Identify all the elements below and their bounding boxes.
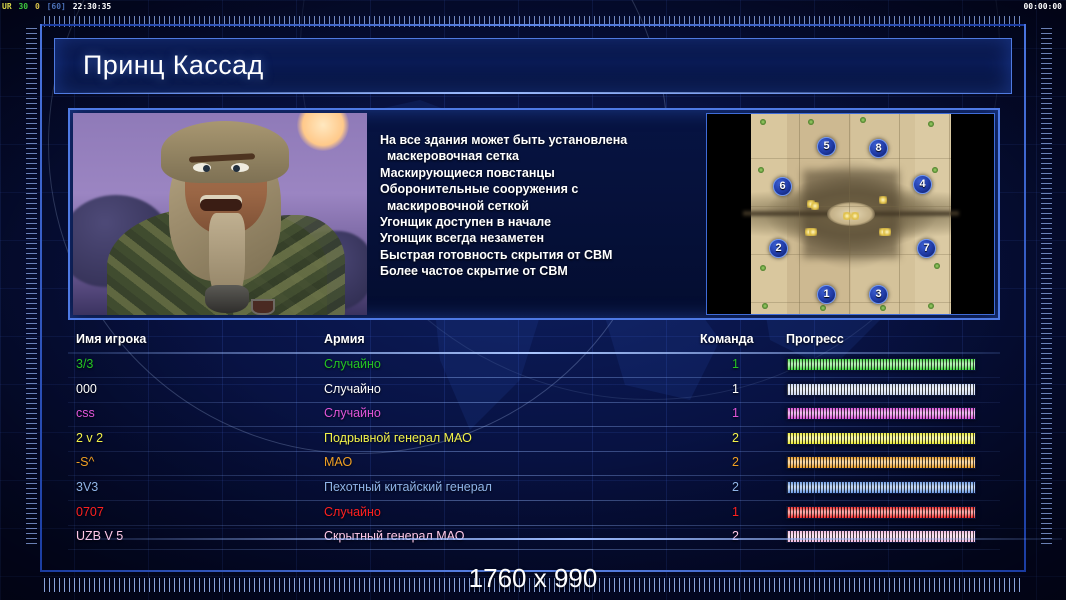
table-header-row: Имя игрока Армия Команда Прогресс xyxy=(68,332,1000,354)
ruler-right xyxy=(1041,28,1052,548)
minimap-start-position[interactable]: 1 xyxy=(817,285,836,304)
player-progress-bar xyxy=(786,481,976,494)
table-row[interactable]: 0707Случайно1 xyxy=(68,502,1000,526)
minimap-tree-icon xyxy=(880,305,886,311)
footer-divider xyxy=(84,538,1062,540)
player-progress-bar xyxy=(786,358,976,371)
player-name: 3V3 xyxy=(76,480,98,494)
ruler-left xyxy=(26,28,37,548)
progress-bar-stripes xyxy=(787,507,975,518)
minimap-tree-icon xyxy=(820,305,826,311)
column-header-progress: Прогресс xyxy=(786,332,844,346)
column-header-team: Команда xyxy=(700,332,754,346)
table-row[interactable]: 2 v 2Подрывной генерал МАО2 xyxy=(68,428,1000,452)
player-army: Случайно xyxy=(324,406,381,420)
player-name: -S^ xyxy=(76,455,94,469)
stat-ur-label: UR xyxy=(2,2,12,11)
progress-bar-stripes xyxy=(787,482,975,493)
minimap[interactable]: 58642713 xyxy=(751,114,951,314)
frame-border-top xyxy=(40,24,1026,26)
resolution-label: 1760 x 990 xyxy=(0,563,1066,594)
player-army: Случайно xyxy=(324,382,381,396)
minimap-tree-icon xyxy=(934,263,940,269)
player-name: 3/3 xyxy=(76,357,93,371)
player-progress-bar xyxy=(786,432,976,445)
title-panel: Принц Кассад xyxy=(54,38,1012,94)
player-army: МАО xyxy=(324,455,352,469)
table-row[interactable]: cssСлучайно1 xyxy=(68,403,1000,427)
table-row[interactable]: 000Случайно1 xyxy=(68,379,1000,403)
column-header-army: Армия xyxy=(324,332,365,346)
player-progress-bar xyxy=(786,456,976,469)
player-progress-bar xyxy=(786,530,976,543)
portrait-teapot xyxy=(205,285,249,313)
top-status-bar: UR 30 0 [60] 22:30:35 00:00:00 xyxy=(0,0,1066,14)
player-team: 1 xyxy=(732,505,739,519)
player-army: Скрытный генерал МАО xyxy=(324,529,464,543)
minimap-start-position[interactable]: 3 xyxy=(869,285,888,304)
minimap-tree-icon xyxy=(932,167,938,173)
progress-bar-stripes xyxy=(787,359,975,370)
network-stats: UR 30 0 [60] 22:30:35 xyxy=(2,0,113,14)
minimap-tree-icon xyxy=(860,117,866,123)
player-name: 000 xyxy=(76,382,97,396)
minimap-start-position[interactable]: 6 xyxy=(773,177,792,196)
minimap-tree-icon xyxy=(762,303,768,309)
portrait-hood xyxy=(161,121,289,183)
progress-bar-stripes xyxy=(787,408,975,419)
frame-border-right xyxy=(1024,24,1026,572)
player-table: Имя игрока Армия Команда Прогресс 3/3Слу… xyxy=(68,332,1000,554)
portrait-cup xyxy=(251,299,275,315)
player-team: 1 xyxy=(732,382,739,396)
minimap-tree-icon xyxy=(758,167,764,173)
column-header-player-name: Имя игрока xyxy=(76,332,146,346)
player-name: css xyxy=(76,406,95,420)
table-row[interactable]: -S^МАО2 xyxy=(68,452,1000,476)
progress-bar-stripes xyxy=(787,384,975,395)
minimap-start-position[interactable]: 5 xyxy=(817,137,836,156)
match-timer: 00:00:00 xyxy=(1023,0,1062,14)
minimap-tree-icon xyxy=(928,303,934,309)
table-row[interactable]: 3V3Пехотный китайский генерал2 xyxy=(68,477,1000,501)
player-name: 2 v 2 xyxy=(76,431,103,445)
portrait-pupil-right xyxy=(233,165,240,172)
minimap-start-position[interactable]: 7 xyxy=(917,239,936,258)
player-team: 1 xyxy=(732,357,739,371)
minimap-oil-derrick-icon xyxy=(809,228,817,236)
minimap-start-position[interactable]: 2 xyxy=(769,239,788,258)
minimap-oil-derrick-icon xyxy=(843,212,851,220)
minimap-oil-derrick-icon xyxy=(883,228,891,236)
player-army: Подрывной генерал МАО xyxy=(324,431,472,445)
minimap-container[interactable]: 58642713 xyxy=(706,113,995,315)
portrait-mouth xyxy=(200,195,242,211)
progress-bar-stripes xyxy=(787,457,975,468)
portrait-pupil-left xyxy=(203,165,210,172)
minimap-tree-icon xyxy=(928,121,934,127)
minimap-start-position[interactable]: 8 xyxy=(869,139,888,158)
minimap-tree-icon xyxy=(760,265,766,271)
minimap-oil-derrick-icon xyxy=(851,212,859,220)
minimap-oil-derrick-icon xyxy=(811,202,819,210)
table-row[interactable]: 3/3Случайно1 xyxy=(68,354,1000,378)
player-team: 2 xyxy=(732,431,739,445)
player-army: Случайно xyxy=(324,505,381,519)
frame-border-left xyxy=(40,24,42,572)
player-team: 2 xyxy=(732,480,739,494)
page-title: Принц Кассад xyxy=(83,50,264,81)
minimap-tree-icon xyxy=(760,119,766,125)
minimap-start-position[interactable]: 4 xyxy=(913,175,932,194)
general-info-panel: На все здания может быть установленамаск… xyxy=(68,108,1000,320)
player-army: Случайно xyxy=(324,357,381,371)
player-progress-bar xyxy=(786,383,976,396)
stat-ur-value: 30 xyxy=(18,2,28,11)
player-team: 2 xyxy=(732,455,739,469)
progress-bar-stripes xyxy=(787,433,975,444)
player-team: 2 xyxy=(732,529,739,543)
player-progress-bar xyxy=(786,506,976,519)
system-clock: 22:30:35 xyxy=(73,2,112,11)
stat-bracket-value: [60] xyxy=(47,2,66,11)
player-team: 1 xyxy=(732,406,739,420)
stat-zero-value: 0 xyxy=(35,2,40,11)
player-name: UZB V 5 xyxy=(76,529,123,543)
player-progress-bar xyxy=(786,407,976,420)
player-army: Пехотный китайский генерал xyxy=(324,480,492,494)
player-name: 0707 xyxy=(76,505,104,519)
minimap-oil-derrick-icon xyxy=(879,196,887,204)
progress-bar-stripes xyxy=(787,531,975,542)
general-portrait xyxy=(73,113,367,315)
minimap-tree-icon xyxy=(808,119,814,125)
hud-frame: Принц Кассад На все здания может быть xyxy=(40,24,1026,572)
